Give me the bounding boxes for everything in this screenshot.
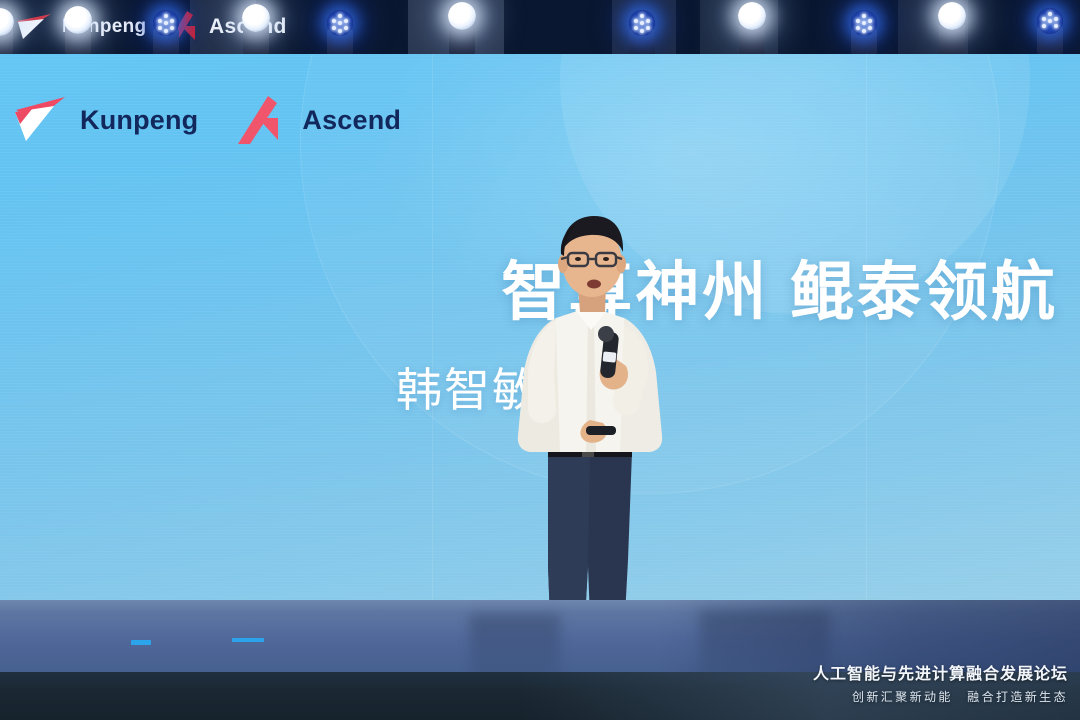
stage-photo: Kunpeng Ascend [0,0,1080,720]
presentation-clicker [586,426,616,435]
floor-marker-tape [131,640,151,645]
floor-reflection [470,614,560,672]
arm-left [528,320,556,423]
event-subtitle: 创新汇聚新动能 融合打造新生态 [813,688,1068,706]
stage-floor [0,600,1080,672]
event-title: 人工智能与先进计算融合发展论坛 [813,664,1068,686]
floor-reflection [700,610,830,672]
event-watermark: 人工智能与先进计算融合发展论坛 创新汇聚新动能 融合打造新生态 [813,664,1068,706]
floor-marker-tape [232,638,264,642]
